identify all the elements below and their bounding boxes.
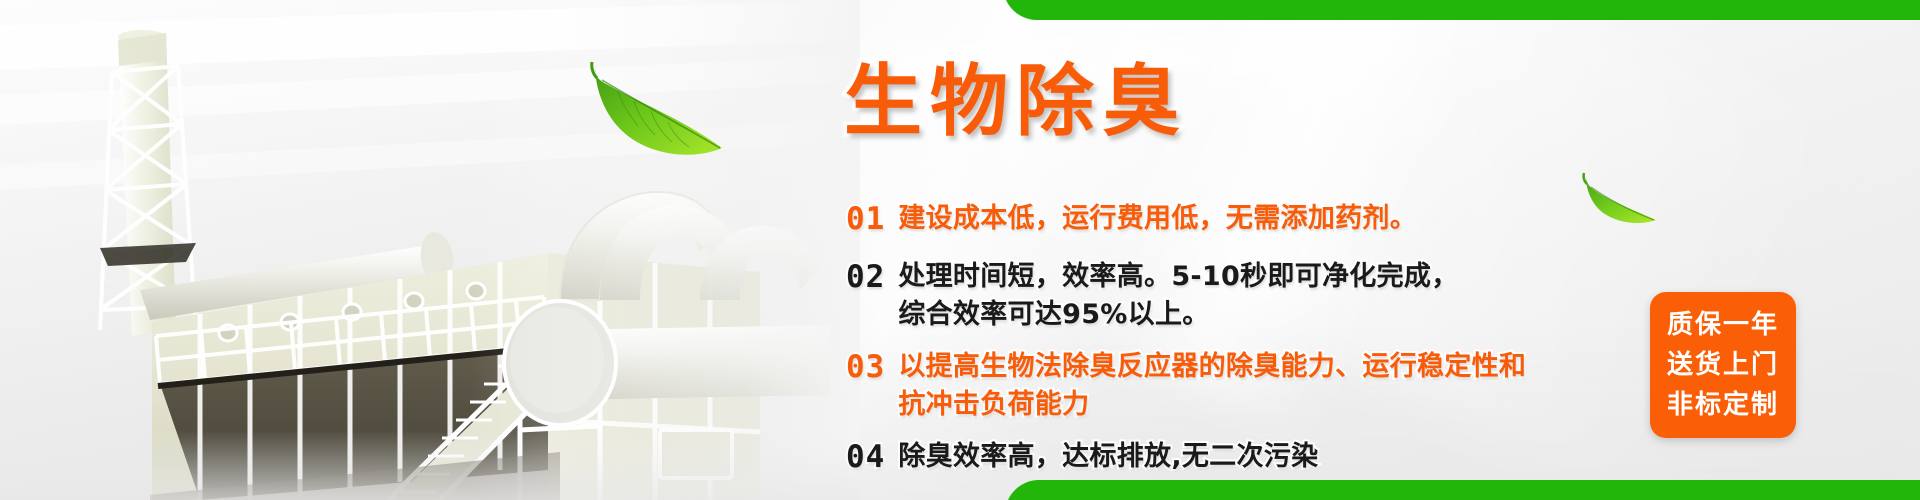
feature-text: 以提高生物法除臭反应器的除臭能力、运行稳定性和 抗冲击负荷能力	[898, 348, 1526, 424]
feature-line: 除臭效率高，达标排放,无二次污染	[898, 438, 1318, 476]
guarantee-badge: 质保一年 送货上门 非标定制	[1650, 292, 1796, 438]
feature-item-02: 02 处理时间短，效率高。5-10秒即可净化完成， 综合效率可达95%以上。	[846, 258, 1666, 334]
feature-line: 综合效率可达95%以上。	[898, 296, 1458, 334]
feature-line: 建设成本低，运行费用低，无需添加药剂。	[898, 200, 1417, 238]
feature-list: 01 建设成本低，运行费用低，无需添加药剂。 02 处理时间短，效率高。5-10…	[846, 200, 1666, 486]
feature-item-04: 04 除臭效率高，达标排放,无二次污染	[846, 438, 1666, 476]
page-title: 生物除臭	[844, 63, 1188, 141]
product-photo	[0, 0, 860, 500]
feature-item-03: 03 以提高生物法除臭反应器的除臭能力、运行稳定性和 抗冲击负荷能力	[846, 348, 1666, 424]
badge-line-2: 送货上门	[1667, 345, 1779, 385]
feature-text: 除臭效率高，达标排放,无二次污染	[898, 438, 1318, 476]
leaf-icon	[588, 60, 728, 165]
feature-text: 建设成本低，运行费用低，无需添加药剂。	[898, 200, 1417, 238]
badge-line-1: 质保一年	[1667, 305, 1779, 345]
feature-line: 处理时间短，效率高。5-10秒即可净化完成，	[898, 258, 1458, 296]
feature-text: 处理时间短，效率高。5-10秒即可净化完成， 综合效率可达95%以上。	[898, 258, 1458, 334]
feature-number: 03	[846, 348, 885, 386]
feature-line: 抗冲击负荷能力	[898, 386, 1526, 424]
feature-number: 02	[846, 258, 885, 296]
feature-number: 04	[846, 438, 885, 476]
feature-item-01: 01 建设成本低，运行费用低，无需添加药剂。	[846, 200, 1666, 238]
feature-line: 以提高生物法除臭反应器的除臭能力、运行稳定性和	[898, 348, 1526, 386]
green-bar-top	[1003, 0, 1920, 20]
promo-banner: 生物除臭 01 建设成本低，运行费用低，无需添加药剂。 02 处理时间短，效率高…	[0, 0, 1920, 500]
feature-number: 01	[846, 200, 885, 238]
badge-line-3: 非标定制	[1667, 385, 1779, 425]
